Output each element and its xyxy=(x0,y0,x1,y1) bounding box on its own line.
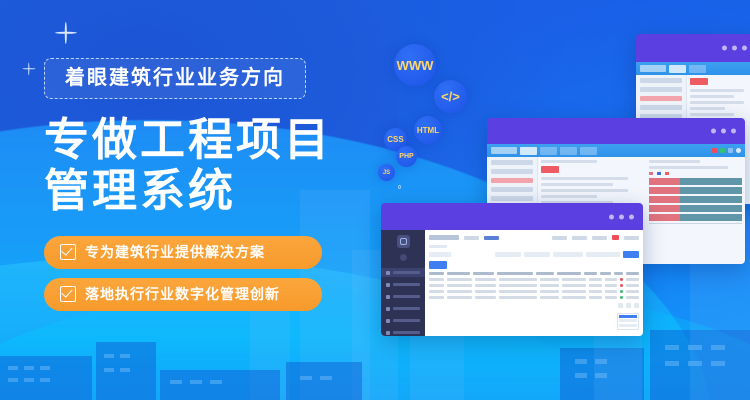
feature-pill-label: 落地执行行业数字化管理创新 xyxy=(85,284,280,304)
user-menu[interactable] xyxy=(624,236,639,240)
app-tab[interactable] xyxy=(669,65,686,73)
app-header xyxy=(636,62,750,75)
checkbox-checked-icon xyxy=(60,244,76,260)
app-logo-icon xyxy=(397,235,410,248)
legend-item xyxy=(657,172,661,175)
sparkle-icon xyxy=(55,22,77,44)
table-row xyxy=(690,95,734,98)
list-item[interactable] xyxy=(640,96,682,101)
app-tab[interactable] xyxy=(580,147,597,155)
status-badge xyxy=(620,290,623,293)
legend-item xyxy=(665,172,669,175)
table-row xyxy=(541,177,628,180)
notification-badge[interactable] xyxy=(612,235,619,240)
table-header xyxy=(541,160,597,163)
window-title-bar xyxy=(636,34,750,62)
code-bubble-zero: 0 xyxy=(394,182,405,193)
filter-label xyxy=(429,252,451,257)
hero-copy: 着眼建筑行业业务方向 专做工程项目 管理系统 专为建筑行业提供解决方案 落地执行… xyxy=(44,58,354,320)
chart-bar-row xyxy=(649,187,742,194)
chart-legend xyxy=(649,172,742,175)
app-tab[interactable] xyxy=(540,147,557,155)
status-badge xyxy=(620,284,623,287)
filter-select[interactable] xyxy=(524,252,550,257)
chart-bars xyxy=(649,178,742,221)
banner-title-line-2: 管理系统 xyxy=(44,166,354,217)
window-dots xyxy=(722,46,747,51)
primary-button[interactable] xyxy=(541,166,559,173)
table-row xyxy=(541,189,628,192)
data-table xyxy=(429,272,639,299)
table-row xyxy=(690,107,725,110)
search-input[interactable] xyxy=(586,252,620,257)
top-menu-bar xyxy=(429,233,639,242)
sidebar-item[interactable] xyxy=(381,268,425,277)
breadcrumb xyxy=(429,245,447,248)
app-tab[interactable] xyxy=(520,147,537,155)
sidebar-item[interactable] xyxy=(381,292,425,301)
checkbox-checked-icon xyxy=(60,286,76,302)
code-bubble-js: JS xyxy=(378,164,395,181)
action-menu-item[interactable] xyxy=(619,319,637,322)
sidebar-item[interactable] xyxy=(381,328,425,336)
chart-title xyxy=(649,160,700,163)
chart-bar-row xyxy=(649,178,742,185)
chart-filter-row xyxy=(649,166,728,169)
page-button[interactable] xyxy=(634,303,639,308)
page-button[interactable] xyxy=(618,303,623,308)
brand-label xyxy=(429,235,459,240)
action-menu-item[interactable] xyxy=(619,324,637,327)
subtitle-box: 着眼建筑行业业务方向 xyxy=(44,58,306,99)
filter-bar xyxy=(429,251,639,258)
app-sidebar xyxy=(381,230,425,336)
menu-item[interactable] xyxy=(592,236,607,240)
app-logo xyxy=(640,65,666,72)
table-row[interactable] xyxy=(429,296,639,299)
sidebar-item[interactable] xyxy=(381,316,425,325)
table-row[interactable] xyxy=(429,290,639,293)
bar-chart xyxy=(647,160,742,261)
sparkle-icon xyxy=(22,62,35,75)
feature-pill-list: 专为建筑行业提供解决方案 落地执行行业数字化管理创新 xyxy=(44,236,354,311)
code-bubble-html: HTML xyxy=(414,116,442,144)
status-badge xyxy=(620,296,623,299)
window-body xyxy=(381,230,643,336)
code-bubble-php: PHP xyxy=(396,146,417,167)
promo-banner: 着眼建筑行业业务方向 专做工程项目 管理系统 专为建筑行业提供解决方案 落地执行… xyxy=(0,0,750,400)
chart-x-axis xyxy=(649,223,742,227)
front-dashboard[interactable] xyxy=(381,203,643,336)
table-row xyxy=(541,195,597,198)
table-row xyxy=(690,101,744,104)
menu-item[interactable] xyxy=(572,236,587,240)
sidebar-item[interactable] xyxy=(381,280,425,289)
filter-select[interactable] xyxy=(495,252,521,257)
search-button[interactable] xyxy=(623,251,639,258)
code-bubble-tag: </> xyxy=(434,80,467,113)
status-badge xyxy=(620,278,623,281)
list-item[interactable] xyxy=(640,105,682,110)
chart-bar-row xyxy=(649,205,742,212)
success-icon[interactable] xyxy=(720,148,725,153)
feature-pill[interactable]: 落地执行行业数字化管理创新 xyxy=(44,278,322,311)
collapse-toggle-icon[interactable] xyxy=(400,254,407,261)
menu-item-selected[interactable] xyxy=(484,236,499,240)
table-row xyxy=(690,89,744,92)
menu-item[interactable] xyxy=(552,236,567,240)
list-item[interactable] xyxy=(640,87,682,92)
chart-bar-row xyxy=(649,196,742,203)
app-tab[interactable] xyxy=(689,65,706,73)
banner-title: 专做工程项目 管理系统 xyxy=(44,115,354,217)
table-row[interactable] xyxy=(429,284,639,287)
code-bubble-cluster: WWW </> HTML CSS PHP JS 0 xyxy=(372,34,512,214)
alert-icon[interactable] xyxy=(712,148,717,153)
feature-pill-label: 专为建筑行业提供解决方案 xyxy=(85,242,265,262)
chart-bar-row xyxy=(649,214,742,221)
table-row[interactable] xyxy=(429,278,639,281)
avatar[interactable] xyxy=(736,148,741,153)
main-content xyxy=(425,230,643,336)
window-dots xyxy=(609,214,634,219)
page-button[interactable] xyxy=(626,303,631,308)
table-header-row xyxy=(429,272,639,275)
feature-pill[interactable]: 专为建筑行业提供解决方案 xyxy=(44,236,322,269)
add-button[interactable] xyxy=(429,261,447,269)
table-row xyxy=(690,113,734,116)
sidebar-item[interactable] xyxy=(381,304,425,313)
app-header xyxy=(487,144,745,157)
menu-item[interactable] xyxy=(464,236,479,240)
action-menu-item[interactable] xyxy=(619,315,637,318)
window-dots xyxy=(711,129,736,134)
banner-title-line-1: 专做工程项目 xyxy=(44,115,354,166)
code-bubble-www: WWW xyxy=(394,44,436,86)
banner-subtitle: 着眼建筑行业业务方向 xyxy=(65,68,285,88)
filter-select[interactable] xyxy=(553,252,583,257)
list-item[interactable] xyxy=(640,78,682,83)
info-icon[interactable] xyxy=(728,148,733,153)
action-dropdown-menu[interactable] xyxy=(617,313,639,331)
legend-item xyxy=(649,172,653,175)
pagination[interactable] xyxy=(429,303,639,308)
table-row xyxy=(541,183,613,186)
primary-button[interactable] xyxy=(690,78,708,85)
window-title-bar xyxy=(487,118,745,144)
app-tab[interactable] xyxy=(560,147,577,155)
